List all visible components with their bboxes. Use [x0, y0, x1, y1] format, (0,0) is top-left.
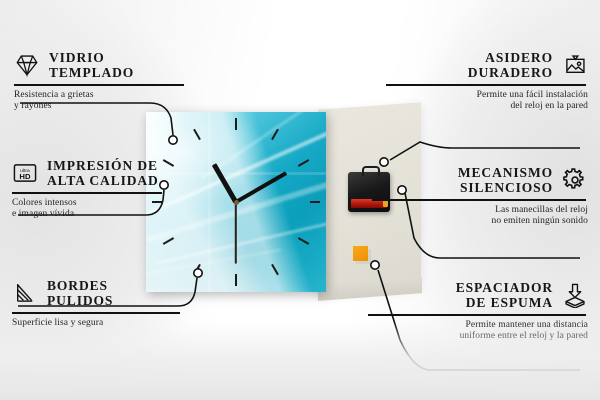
- feature-mecanismo-silencioso: MECANISMO SILENCIOSO Las manecillas del …: [356, 165, 588, 228]
- feature-title: DURADERO: [468, 65, 553, 80]
- feature-title: SILENCIOSO: [458, 180, 553, 195]
- feature-vidrio-templado: VIDRIO TEMPLADO Resistencia a grietas y …: [14, 50, 244, 113]
- feature-desc: Las manecillas del reloj: [356, 205, 588, 217]
- divider: [12, 312, 180, 314]
- divider: [372, 199, 586, 201]
- feature-bordes-pulidos: BORDES PULIDOS Superficie lisa y segura: [12, 278, 242, 329]
- feature-desc: Resistencia a grietas: [14, 90, 244, 102]
- feature-title: IMPRESIÓN DE: [47, 158, 159, 173]
- divider: [14, 84, 184, 86]
- divider: [386, 84, 586, 86]
- feature-title: TEMPLADO: [49, 65, 134, 80]
- svg-text:HD: HD: [19, 172, 31, 181]
- feature-title: ESPACIADOR: [456, 280, 553, 295]
- feature-desc: Permite mantener una distancia: [356, 320, 588, 332]
- feature-title: PULIDOS: [47, 293, 113, 308]
- polished-edge-icon: [12, 280, 38, 306]
- product-infographic: VIDRIO TEMPLADO Resistencia a grietas y …: [0, 0, 600, 400]
- feature-desc: Superficie lisa y segura: [12, 318, 242, 330]
- feature-espaciador-de-espuma: ESPACIADOR DE ESPUMA Permite mantener un…: [356, 280, 588, 343]
- divider: [12, 192, 162, 194]
- feature-title: MECANISMO: [458, 165, 553, 180]
- feature-desc: y rayones: [14, 101, 244, 113]
- feature-title: BORDES: [47, 278, 113, 293]
- foam-spacer: [353, 246, 368, 261]
- feature-asidero-duradero: ASIDERO DURADERO Permite una fácil insta…: [356, 50, 588, 113]
- feature-impresion-alta-calidad: ultra HD IMPRESIÓN DE ALTA CALIDAD Color…: [12, 158, 242, 221]
- gear-icon: [562, 167, 588, 193]
- feature-desc: no emiten ningún sonido: [356, 216, 588, 228]
- feature-desc: e imagen vívida: [12, 209, 242, 221]
- feature-desc: del reloj en la pared: [356, 101, 588, 113]
- diamond-icon: [14, 52, 40, 78]
- feature-title: DE ESPUMA: [456, 295, 553, 310]
- divider: [368, 314, 586, 316]
- arrow-into-layers-icon: [562, 282, 588, 308]
- hanging-frame-icon: [562, 52, 588, 78]
- feature-title: ALTA CALIDAD: [47, 173, 159, 188]
- feature-desc: uniforme entre el reloj y la pared: [356, 331, 588, 343]
- feature-desc: Colores intensos: [12, 198, 242, 210]
- feature-title: VIDRIO: [49, 50, 134, 65]
- feature-title: ASIDERO: [468, 50, 553, 65]
- feature-desc: Permite una fácil instalación: [356, 90, 588, 102]
- ultra-hd-icon: ultra HD: [12, 160, 38, 186]
